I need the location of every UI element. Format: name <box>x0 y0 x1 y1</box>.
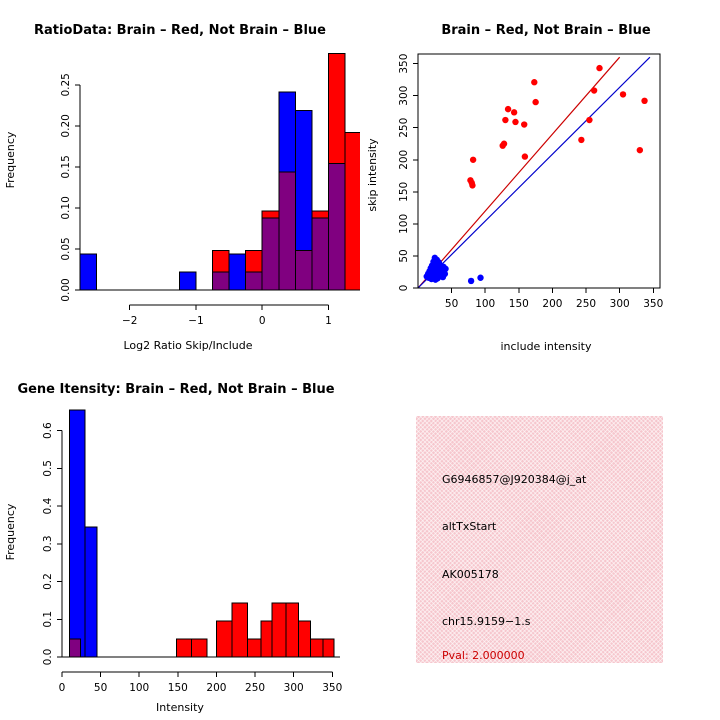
scatter-point <box>521 121 527 127</box>
ratio-histogram-bars <box>80 54 360 290</box>
brain-fit-line <box>418 57 620 288</box>
gene-bar <box>232 603 247 657</box>
gene-bar <box>192 639 207 657</box>
info-probe-id: G6946857@J920384@j_at <box>442 473 586 486</box>
svg-text:200: 200 <box>206 682 226 694</box>
svg-text:350: 350 <box>398 54 410 74</box>
svg-text:0: 0 <box>59 682 66 694</box>
svg-text:1: 1 <box>325 315 332 327</box>
figure-canvas: RatioData: Brain – Red, Not Brain – Blue… <box>0 0 720 720</box>
scatter-fitlines <box>418 57 650 288</box>
panel-gene-info: G6946857@J920384@j_at altTxStart AK00517… <box>360 360 720 720</box>
svg-text:150: 150 <box>509 298 529 310</box>
svg-text:250: 250 <box>245 682 265 694</box>
scatter-point <box>502 117 508 123</box>
scatter-point <box>522 153 528 159</box>
info-accession: AK005178 <box>442 568 499 581</box>
svg-text:150: 150 <box>168 682 188 694</box>
svg-text:50: 50 <box>398 249 410 262</box>
gene-histogram-ylabel: Frequency <box>4 503 17 560</box>
scatter-point <box>468 278 474 284</box>
svg-text:0.5: 0.5 <box>42 460 54 477</box>
svg-text:0.20: 0.20 <box>60 114 72 137</box>
svg-text:50: 50 <box>94 682 107 694</box>
info-event-type: altTxStart <box>442 520 496 533</box>
gene-bar <box>298 621 310 657</box>
ratio-histogram-ylabel: Frequency <box>4 131 17 188</box>
gene-histogram-svg: Gene Itensity: Brain – Red, Not Brain – … <box>0 360 360 720</box>
svg-text:300: 300 <box>610 298 630 310</box>
scatter-point <box>442 266 448 272</box>
scatter-point <box>641 98 647 104</box>
panel-intensity-scatter: Brain – Red, Not Brain – Blue skip inten… <box>360 0 720 360</box>
ratio-bar-overlap <box>262 218 279 290</box>
svg-text:0.00: 0.00 <box>60 278 72 301</box>
svg-text:0.05: 0.05 <box>60 237 72 260</box>
svg-text:200: 200 <box>398 150 410 170</box>
scatter-point <box>531 79 537 85</box>
gene-bar <box>216 621 231 657</box>
panel-ratio-histogram: RatioData: Brain – Red, Not Brain – Blue… <box>0 0 360 360</box>
svg-text:350: 350 <box>643 298 663 310</box>
scatter-point <box>586 117 592 123</box>
scatter-title: Brain – Red, Not Brain – Blue <box>441 23 650 38</box>
scatter-point <box>578 137 584 143</box>
svg-text:100: 100 <box>475 298 495 310</box>
scatter-ylabel: skip intensity <box>366 138 379 212</box>
gene-bar-overlap <box>70 639 81 657</box>
info-locus: chr15.9159−1.s <box>442 615 530 628</box>
scatter-point <box>477 275 483 281</box>
gene-bar <box>323 639 334 657</box>
gene-bar <box>70 410 85 657</box>
svg-text:100: 100 <box>129 682 149 694</box>
svg-text:150: 150 <box>398 182 410 202</box>
svg-text:0.4: 0.4 <box>42 497 54 514</box>
scatter-point <box>512 119 518 125</box>
svg-text:0.0: 0.0 <box>42 649 54 666</box>
ratio-bar-overlap <box>213 272 230 290</box>
gene-histogram-title: Gene Itensity: Brain – Red, Not Brain – … <box>17 382 334 397</box>
ratio-histogram-xlabel: Log2 Ratio Skip/Include <box>123 339 252 352</box>
gene-bar <box>85 527 97 657</box>
panel-gene-intensity-histogram: Gene Itensity: Brain – Red, Not Brain – … <box>0 360 360 720</box>
ratio-bar <box>80 254 97 290</box>
svg-text:0.3: 0.3 <box>42 535 54 552</box>
gene-bar <box>261 621 272 657</box>
intensity-scatter-svg: Brain – Red, Not Brain – Blue skip inten… <box>360 0 720 360</box>
svg-text:250: 250 <box>398 118 410 138</box>
scatter-point <box>469 182 475 188</box>
scatter-point <box>432 276 438 282</box>
ratio-histogram-svg: RatioData: Brain – Red, Not Brain – Blue… <box>0 0 360 360</box>
info-pval: Pval: 2.000000 <box>442 649 525 662</box>
scatter-point <box>620 91 626 97</box>
svg-text:0.15: 0.15 <box>60 155 72 178</box>
svg-text:300: 300 <box>284 682 304 694</box>
ratio-bar-overlap <box>295 251 312 290</box>
svg-text:−2: −2 <box>122 315 137 327</box>
gene-bar <box>247 639 261 657</box>
scatter-point <box>532 99 538 105</box>
svg-text:0: 0 <box>259 315 266 327</box>
ratio-bar <box>229 254 246 290</box>
scatter-point <box>511 109 517 115</box>
svg-text:−1: −1 <box>188 315 203 327</box>
ratio-bar-overlap <box>328 164 345 290</box>
gene-bar <box>311 639 323 657</box>
ratio-bar-overlap <box>312 218 329 290</box>
ratio-bar <box>179 272 196 290</box>
not-brain-fit-line <box>418 57 650 288</box>
gene-bar <box>286 603 298 657</box>
scatter-point <box>470 157 476 163</box>
gene-bar <box>272 603 286 657</box>
svg-text:0.10: 0.10 <box>60 196 72 219</box>
ratio-bar-overlap <box>246 272 263 290</box>
svg-text:200: 200 <box>542 298 562 310</box>
svg-text:0.25: 0.25 <box>60 73 72 96</box>
gene-histogram-xlabel: Intensity <box>156 701 204 714</box>
scatter-point <box>596 65 602 71</box>
svg-text:0.2: 0.2 <box>42 573 54 590</box>
svg-text:50: 50 <box>445 298 458 310</box>
gene-histogram-bars <box>70 410 334 657</box>
svg-text:300: 300 <box>398 86 410 106</box>
gene-bar <box>176 639 191 657</box>
svg-text:0.6: 0.6 <box>42 422 54 439</box>
svg-text:350: 350 <box>322 682 342 694</box>
scatter-point <box>501 141 507 147</box>
ratio-bar <box>345 132 360 290</box>
svg-text:250: 250 <box>576 298 596 310</box>
svg-text:0.1: 0.1 <box>42 611 54 628</box>
scatter-point <box>591 87 597 93</box>
svg-text:100: 100 <box>398 214 410 234</box>
scatter-point <box>505 106 511 112</box>
scatter-xlabel: include intensity <box>500 340 592 353</box>
svg-text:0: 0 <box>398 285 410 292</box>
ratio-bar-overlap <box>279 172 296 290</box>
scatter-points <box>424 65 648 284</box>
gene-info-box: G6946857@J920384@j_at altTxStart AK00517… <box>416 416 663 663</box>
scatter-point <box>637 147 643 153</box>
ratio-histogram-title: RatioData: Brain – Red, Not Brain – Blue <box>34 23 326 38</box>
